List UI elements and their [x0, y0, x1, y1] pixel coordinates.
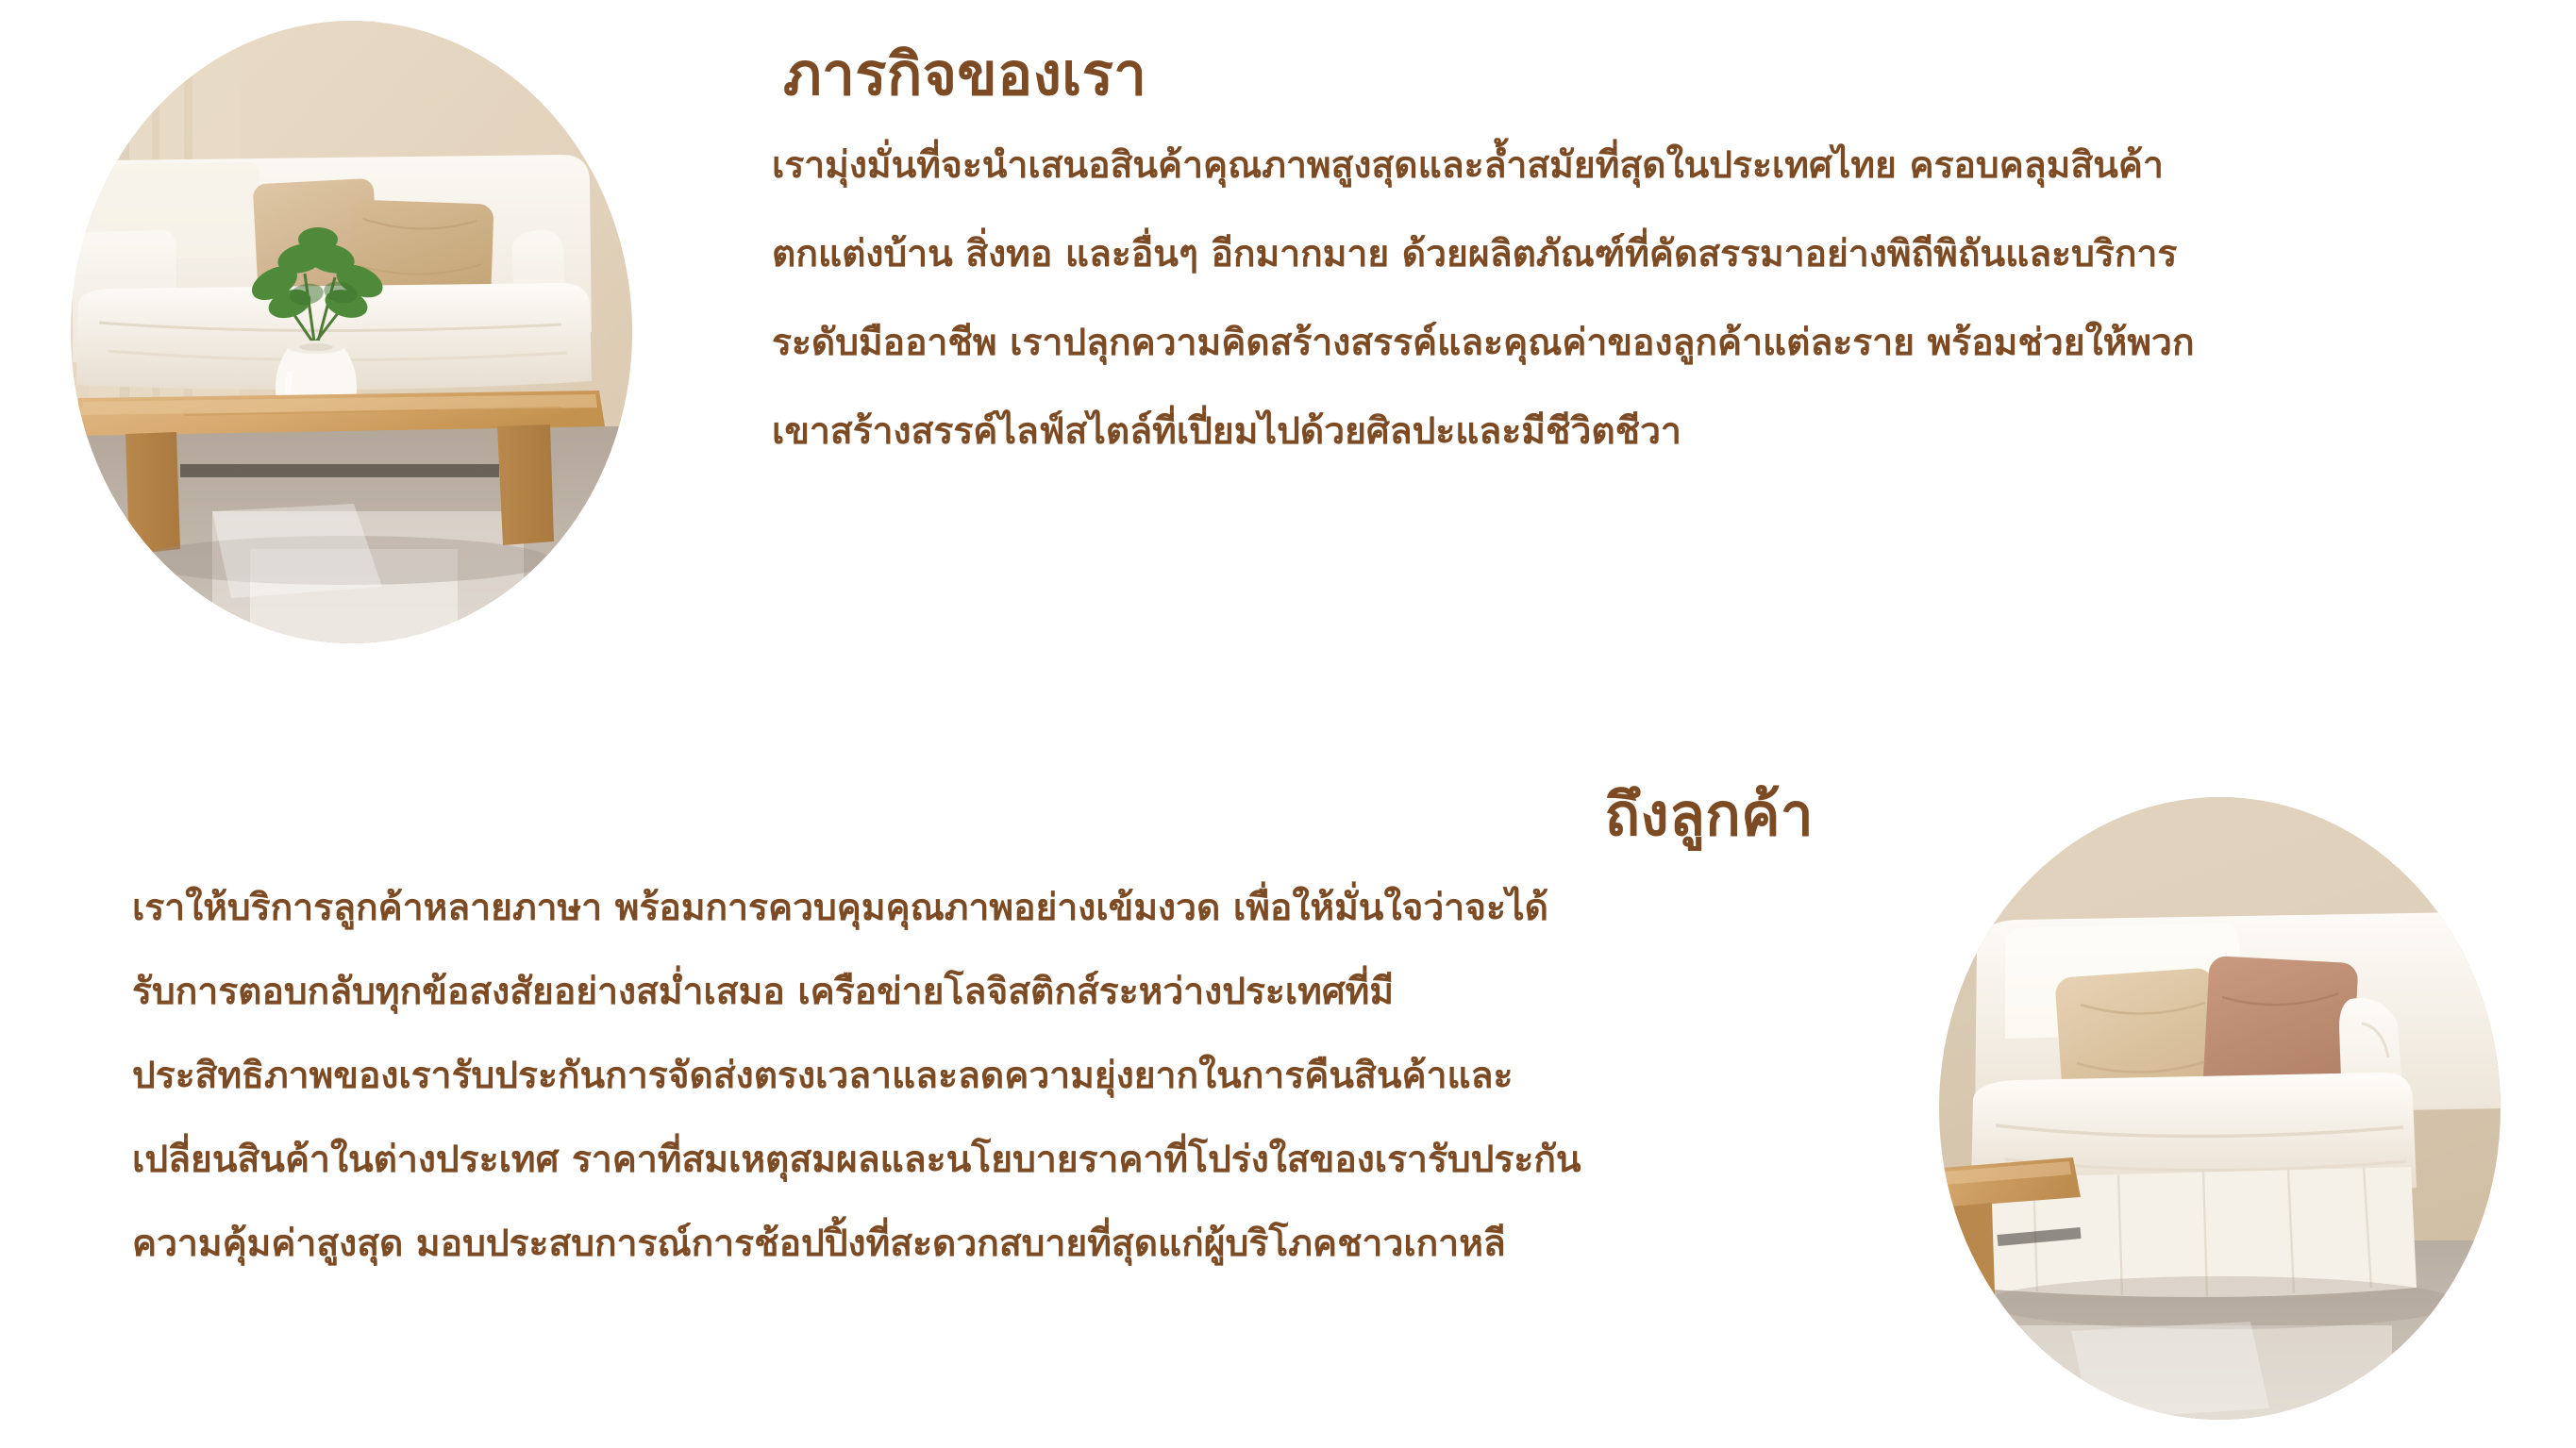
customers-heading: ถึงลูกค้า: [132, 778, 1859, 852]
customers-body: เราให้บริการลูกค้าหลายภาษา พร้อมการควบคุ…: [132, 890, 1859, 1262]
customers-line-1: เราให้บริการลูกค้าหลายภาษา พร้อมการควบคุ…: [132, 890, 1859, 926]
mission-line-1: เรามุ่งมั่นที่จะนำเสนอสินค้าคุณภาพสูงสุด…: [772, 147, 2442, 184]
mission-heading: ภารกิจของเรา: [772, 38, 2442, 111]
mission-text-block: ภารกิจของเรา เรามุ่งมั่นที่จะนำเสนอสินค้…: [772, 38, 2442, 450]
living-room-illustration: [71, 21, 632, 643]
customers-line-5: ความคุ้มค่าสูงสุด มอบประสบการณ์การช้อปปิ…: [132, 1225, 1859, 1262]
customers-line-2: รับการตอบกลับทุกข้อสงสัยอย่างสม่ำเสมอ เค…: [132, 974, 1859, 1010]
customers-line-3: ประสิทธิภาพของเรารับประกันการจัดส่งตรงเว…: [132, 1057, 1859, 1094]
mission-line-2: ตกแต่งบ้าน สิ่งทอ และอื่นๆ อีกมากมาย ด้ว…: [772, 236, 2442, 273]
customers-photo: [1939, 797, 2501, 1420]
mission-line-3: ระดับมืออาชีพ เราปลุกความคิดสร้างสรรค์แล…: [772, 325, 2442, 361]
white-sofa-illustration: [1939, 797, 2501, 1420]
about-page: ภารกิจของเรา เรามุ่งมั่นที่จะนำเสนอสินค้…: [0, 0, 2576, 1448]
mission-photo: [71, 21, 632, 643]
mission-line-4: เขาสร้างสรรค์ไลฟ์สไตล์ที่เปี่ยมไปด้วยศิล…: [772, 413, 2442, 450]
customers-line-4: เปลี่ยนสินค้าในต่างประเทศ ราคาที่สมเหตุส…: [132, 1141, 1859, 1178]
mission-body: เรามุ่งมั่นที่จะนำเสนอสินค้าคุณภาพสูงสุด…: [772, 147, 2442, 450]
customers-text-block: ถึงลูกค้า เราให้บริการลูกค้าหลายภาษา พร้…: [132, 778, 1859, 1262]
